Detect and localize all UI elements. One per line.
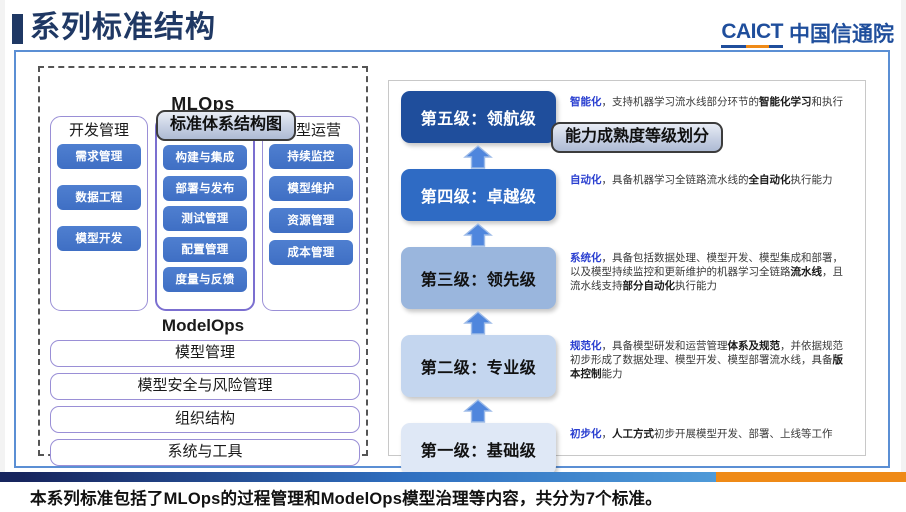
chip-continuous-monitoring[interactable]: 持续监控 — [269, 144, 353, 169]
brand-mark-text: CAICT — [721, 20, 783, 43]
maturity-level-box[interactable]: 第二级：专业级 — [401, 335, 556, 397]
header: 系列标准结构 CAICT 中国信通院 — [0, 0, 906, 48]
brand-mark: CAICT — [721, 20, 783, 48]
desc-emphasis: 流水线 — [791, 266, 823, 278]
brand-name-cn: 中国信通院 — [789, 18, 894, 48]
modelops-rows: 模型管理 模型安全与风险管理 组织结构 系统与工具 — [50, 340, 360, 466]
chip-model-maintenance[interactable]: 模型维护 — [269, 176, 353, 201]
maturity-level-box[interactable]: 第四级：卓越级 — [401, 169, 556, 221]
desc-text: ， — [602, 428, 613, 440]
right-panel-badge: 能力成熟度等级划分 — [551, 122, 723, 153]
maturity-level-row: 第二级：专业级规范化，具备模型研发和运营管理体系及规范，并依据规范初步形成了数据… — [401, 335, 857, 397]
desc-keyword: 自动化 — [570, 174, 602, 186]
desc-emphasis: 部分自动化 — [623, 280, 676, 292]
desc-emphasis: 全自动化 — [749, 174, 791, 186]
chip-resource-management[interactable]: 资源管理 — [269, 208, 353, 233]
desc-text: 执行能力 — [675, 280, 717, 292]
accent-bar-segment-blue — [23, 472, 716, 482]
modelops-title: ModelOps — [40, 316, 366, 336]
level-arrow-wrap — [401, 143, 556, 169]
column-model-delivery[interactable]: 模型交付 构建与集成 部署与发布 测试管理 配置管理 度量与反馈 — [155, 116, 255, 311]
chip-build-integration[interactable]: 构建与集成 — [163, 145, 247, 170]
slide-left-edge — [0, 0, 5, 512]
maturity-level-row: 第三级：领先级系统化，具备包括数据处理、模型开发、模型集成和部署，以及模型持续监… — [401, 247, 857, 309]
modelops-row-model-management[interactable]: 模型管理 — [50, 340, 360, 367]
maturity-level-row: 第一级：基础级初步化，人工方式初步开展模型开发、部署、上线等工作 — [401, 423, 857, 475]
level-arrow-wrap — [401, 397, 556, 423]
title-bullet-icon — [12, 14, 23, 44]
desc-keyword: 系统化 — [570, 252, 602, 264]
chip-deploy-release[interactable]: 部署与发布 — [163, 176, 247, 201]
modelops-row-security-risk[interactable]: 模型安全与风险管理 — [50, 373, 360, 400]
accent-bar — [0, 472, 906, 482]
desc-keyword: 智能化 — [570, 96, 602, 108]
page-title: 系列标准结构 — [30, 10, 216, 46]
column-model-operations[interactable]: 模型运营 持续监控 模型维护 资源管理 成本管理 — [262, 116, 360, 311]
chip-data-engineering[interactable]: 数据工程 — [57, 185, 141, 210]
maturity-level-description: 智能化，支持机器学习流水线部分环节的智能化学习和执行 — [556, 91, 857, 109]
level-arrow-wrap — [401, 221, 556, 247]
footer-banner: 本系列标准包括了MLOps的过程管理和ModelOps模型治理等内容，共分为7个… — [0, 482, 906, 512]
chip-config-management[interactable]: 配置管理 — [163, 237, 247, 262]
column-development-management[interactable]: 开发管理 需求管理 数据工程 模型开发 — [50, 116, 148, 311]
maturity-level-box[interactable]: 第一级：基础级 — [401, 423, 556, 475]
brand-logo: CAICT 中国信通院 — [721, 18, 894, 48]
desc-keyword: 初步化 — [570, 428, 602, 440]
maturity-level-row: 第四级：卓越级自动化，具备机器学习全链路流水线的全自动化执行能力 — [401, 169, 857, 221]
desc-text: 初步开展模型开发、部署、上线等工作 — [654, 428, 833, 440]
content-frame: MLOps 开发管理 需求管理 数据工程 模型开发 模型交付 构建与集成 部署与… — [14, 50, 890, 468]
chip-test-management[interactable]: 测试管理 — [163, 206, 247, 231]
maturity-level-box[interactable]: 第五级：领航级 — [401, 91, 556, 143]
brand-underline-accent — [746, 45, 769, 48]
modelops-row-organization[interactable]: 组织结构 — [50, 406, 360, 433]
desc-emphasis: 人工方式 — [612, 428, 654, 440]
desc-keyword: 规范化 — [570, 340, 602, 352]
maturity-level-box[interactable]: 第三级：领先级 — [401, 247, 556, 309]
desc-text: ，具备机器学习全链路流水线的 — [602, 174, 749, 186]
left-panel-badge: 标准体系结构图 — [156, 110, 296, 141]
maturity-level-description: 系统化，具备包括数据处理、模型开发、模型集成和部署，以及模型持续监控和更新维护的… — [556, 247, 857, 293]
chip-cost-management[interactable]: 成本管理 — [269, 240, 353, 265]
footer-text: 本系列标准包括了MLOps的过程管理和ModelOps模型治理等内容，共分为7个… — [30, 485, 662, 509]
desc-text: 执行能力 — [791, 174, 833, 186]
modelops-row-systems-tools[interactable]: 系统与工具 — [50, 439, 360, 466]
chip-metrics-feedback[interactable]: 度量与反馈 — [163, 267, 247, 292]
desc-emphasis: 体系及规范 — [728, 340, 781, 352]
chip-model-development[interactable]: 模型开发 — [57, 226, 141, 251]
desc-emphasis: 智能化学习 — [759, 96, 812, 108]
accent-bar-segment-navy — [0, 472, 23, 482]
desc-text: 和执行 — [812, 96, 844, 108]
desc-text: ，支持机器学习流水线部分环节的 — [602, 96, 760, 108]
mlops-columns: 开发管理 需求管理 数据工程 模型开发 模型交付 构建与集成 部署与发布 测试管… — [50, 116, 360, 311]
slide-right-edge — [901, 0, 906, 512]
desc-text: ，具备模型研发和运营管理 — [602, 340, 728, 352]
column-title: 开发管理 — [69, 121, 129, 141]
desc-text: 能力 — [602, 368, 623, 380]
level-arrow-wrap — [401, 309, 556, 335]
maturity-level-description: 初步化，人工方式初步开展模型开发、部署、上线等工作 — [556, 423, 857, 441]
maturity-level-description: 规范化，具备模型研发和运营管理体系及规范，并依据规范初步形成了数据处理、模型开发… — [556, 335, 857, 381]
slide: 系列标准结构 CAICT 中国信通院 MLOps 开发管理 需求管理 数据工程 … — [0, 0, 906, 512]
maturity-level-description: 自动化，具备机器学习全链路流水线的全自动化执行能力 — [556, 169, 857, 187]
chip-requirement-management[interactable]: 需求管理 — [57, 144, 141, 169]
accent-bar-segment-orange — [716, 472, 906, 482]
